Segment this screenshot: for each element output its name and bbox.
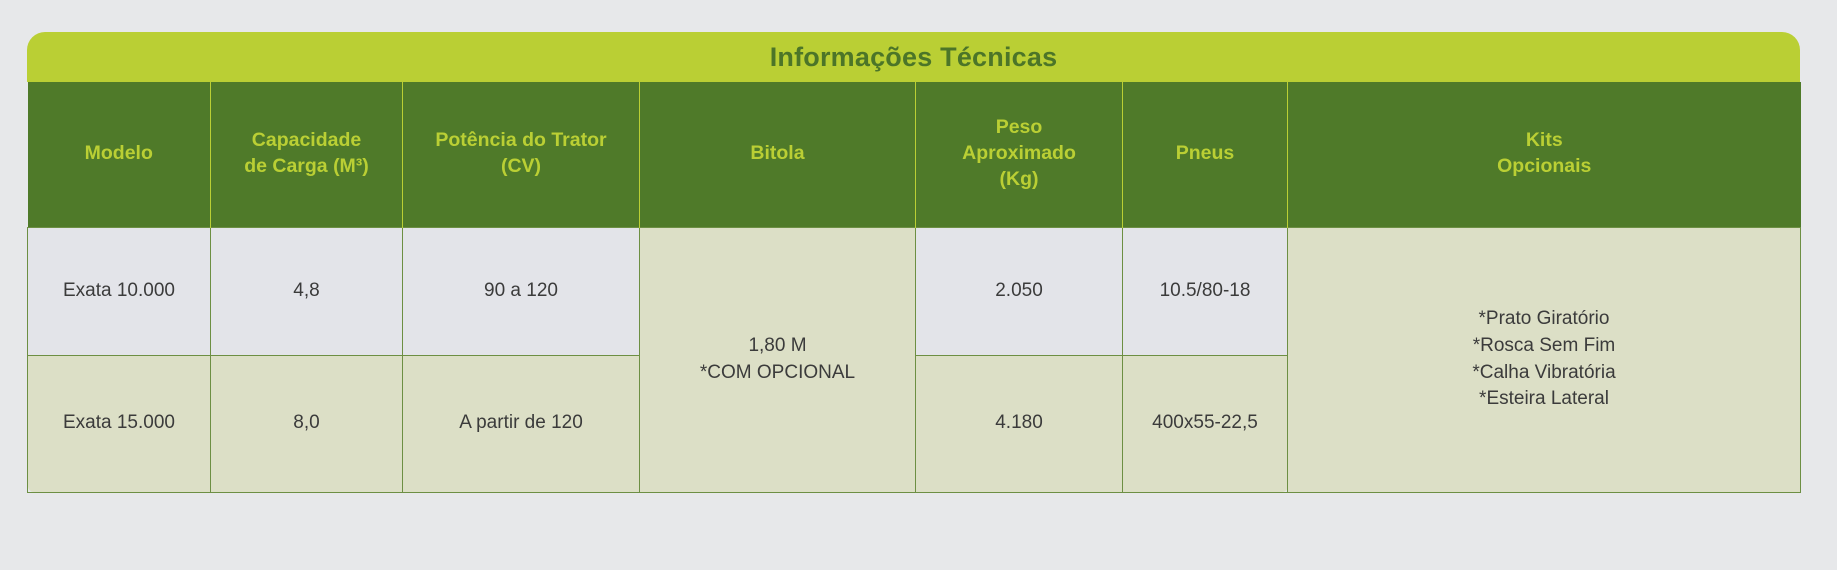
column-header-modelo: Modelo xyxy=(28,82,211,227)
header-line-3: (Kg) xyxy=(916,167,1122,193)
column-header-peso-aproximado: Peso Aproximado (Kg) xyxy=(916,82,1123,227)
kits-line-3: *Calha Vibratória xyxy=(1288,360,1800,387)
bitola-line-1: 1,80 M xyxy=(640,333,915,360)
cell-pneus: 10.5/80-18 xyxy=(1123,227,1288,355)
column-header-potencia-do-trator: Potência do Trator (CV) xyxy=(403,82,640,227)
header-line-1: Pneus xyxy=(1123,141,1287,167)
header-line-1: Bitola xyxy=(640,141,915,167)
kits-line-2: *Rosca Sem Fim xyxy=(1288,333,1800,360)
header-line-1: Potência do Trator xyxy=(403,128,639,154)
table-header-row: Modelo Capacidade de Carga (M³) Potência… xyxy=(28,82,1801,227)
cell-capacidade: 4,8 xyxy=(211,227,403,355)
cell-kits-opcionais-merged: *Prato Giratório *Rosca Sem Fim *Calha V… xyxy=(1288,227,1801,492)
header-line-1: Capacidade xyxy=(211,128,402,154)
cell-capacidade: 8,0 xyxy=(211,355,403,492)
kits-line-1: *Prato Giratório xyxy=(1288,306,1800,333)
column-header-kits-opcionais: Kits Opcionais xyxy=(1288,82,1801,227)
header-line-1: Kits xyxy=(1288,128,1801,154)
cell-potencia: 90 a 120 xyxy=(403,227,640,355)
technical-specifications-table: Modelo Capacidade de Carga (M³) Potência… xyxy=(27,82,1801,493)
cell-peso: 2.050 xyxy=(916,227,1123,355)
header-line-2: Aproximado xyxy=(916,141,1122,167)
panel-title: Informações Técnicas xyxy=(770,44,1058,71)
cell-potencia: A partir de 120 xyxy=(403,355,640,492)
header-line-2: Opcionais xyxy=(1288,154,1801,180)
panel-title-bar: Informações Técnicas xyxy=(27,32,1800,82)
column-header-bitola: Bitola xyxy=(640,82,916,227)
technical-specifications-panel: Informações Técnicas Modelo Capacidade d… xyxy=(27,32,1800,527)
cell-bitola-merged: 1,80 M *COM OPCIONAL xyxy=(640,227,916,492)
cell-modelo: Exata 10.000 xyxy=(28,227,211,355)
header-line-2: de Carga (M³) xyxy=(211,154,402,180)
column-header-capacidade-de-carga: Capacidade de Carga (M³) xyxy=(211,82,403,227)
cell-pneus: 400x55-22,5 xyxy=(1123,355,1288,492)
cell-modelo: Exata 15.000 xyxy=(28,355,211,492)
table-row: Exata 10.000 4,8 90 a 120 1,80 M *COM OP… xyxy=(28,227,1801,355)
header-line-1: Peso xyxy=(916,115,1122,141)
column-header-pneus: Pneus xyxy=(1123,82,1288,227)
kits-line-4: *Esteira Lateral xyxy=(1288,386,1800,413)
header-line-2: (CV) xyxy=(403,154,639,180)
bitola-line-2: *COM OPCIONAL xyxy=(640,360,915,387)
cell-peso: 4.180 xyxy=(916,355,1123,492)
header-line-1: Modelo xyxy=(28,141,211,167)
